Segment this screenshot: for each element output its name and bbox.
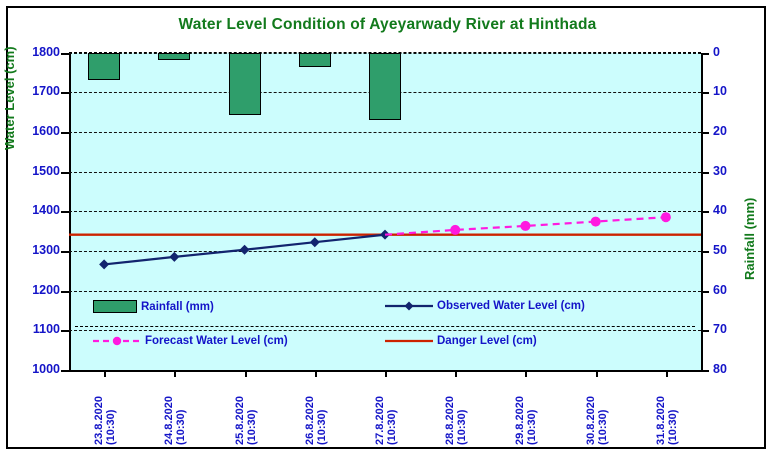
rainfall-bar: [369, 53, 401, 120]
left-tick: [61, 53, 69, 55]
legend-label-forecast: Forecast Water Level (cm): [145, 335, 288, 347]
right-tick: [701, 53, 709, 55]
right-axis-tick-label: 80: [713, 362, 753, 376]
x-tick: [455, 370, 457, 377]
right-tick: [701, 251, 709, 253]
left-axis-tick-label: 1600: [0, 124, 60, 138]
rainfall-bar: [88, 53, 120, 81]
x-axis-label: 30.8.2020(10:30): [585, 396, 609, 445]
left-tick: [61, 211, 69, 213]
right-tick: [701, 370, 709, 372]
right-axis-tick-label: 70: [713, 322, 753, 336]
right-axis-tick-label: 30: [713, 164, 753, 178]
rainfall-bar: [299, 53, 331, 68]
x-axis-label-time: (10:30): [175, 396, 187, 445]
left-axis-tick-label: 1800: [0, 45, 60, 59]
x-tick: [174, 370, 176, 377]
x-axis-label-date: 30.8.2020: [585, 396, 597, 445]
left-tick: [61, 370, 69, 372]
chart-legend: Rainfall (mm) Observed Water Level (cm) …: [75, 292, 695, 362]
x-axis-label-time: (10:30): [456, 396, 468, 445]
right-tick: [701, 132, 709, 134]
x-axis-label: 28.8.2020(10:30): [444, 396, 468, 445]
x-axis-label-date: 27.8.2020: [374, 396, 386, 445]
right-axis-tick-label: 60: [713, 283, 753, 297]
right-axis-tick-label: 0: [713, 45, 753, 59]
x-tick: [596, 370, 598, 377]
x-axis-label-date: 24.8.2020: [163, 396, 175, 445]
x-tick: [525, 370, 527, 377]
left-tick: [61, 330, 69, 332]
forecast-dashed-circle-icon: [93, 335, 141, 347]
x-axis-label-time: (10:30): [105, 396, 117, 445]
right-tick: [701, 291, 709, 293]
legend-divider: [75, 326, 695, 327]
x-axis-label: 26.8.2020(10:30): [304, 396, 328, 445]
gridline: [69, 251, 701, 252]
right-tick: [701, 172, 709, 174]
x-axis-label: 27.8.2020(10:30): [374, 396, 398, 445]
x-axis-label-time: (10:30): [667, 396, 679, 445]
rainfall-bar: [158, 53, 190, 61]
chart-screenshot: Water Level Condition of Ayeyarwady Rive…: [0, 0, 775, 457]
danger-line-icon: [385, 335, 433, 347]
x-axis-label-time: (10:30): [386, 396, 398, 445]
gridline: [69, 132, 701, 133]
rainfall-bar: [229, 53, 261, 115]
right-tick: [701, 330, 709, 332]
legend-item-rainfall: Rainfall (mm): [93, 300, 214, 313]
right-axis-tick-label: 50: [713, 243, 753, 257]
left-axis-tick-label: 1500: [0, 164, 60, 178]
x-axis-label: 31.8.2020(10:30): [655, 396, 679, 445]
left-tick: [61, 92, 69, 94]
observed-line-diamond-icon: [385, 300, 433, 312]
x-axis-label-time: (10:30): [526, 396, 538, 445]
right-tick: [701, 92, 709, 94]
x-axis-label: 29.8.2020(10:30): [514, 396, 538, 445]
left-tick: [61, 251, 69, 253]
right-tick: [701, 211, 709, 213]
left-tick: [61, 291, 69, 293]
left-tick: [61, 132, 69, 134]
x-tick: [104, 370, 106, 377]
x-axis-label-time: (10:30): [246, 396, 258, 445]
left-axis-tick-label: 1400: [0, 203, 60, 217]
x-tick: [245, 370, 247, 377]
left-tick: [61, 172, 69, 174]
left-axis-tick-label: 1700: [0, 84, 60, 98]
legend-item-forecast: Forecast Water Level (cm): [93, 335, 288, 347]
x-tick: [666, 370, 668, 377]
legend-item-observed: Observed Water Level (cm): [385, 300, 585, 312]
x-tick: [315, 370, 317, 377]
legend-label-rainfall: Rainfall (mm): [141, 301, 214, 313]
chart-title: Water Level Condition of Ayeyarwady Rive…: [0, 16, 775, 34]
x-axis-label-date: 26.8.2020: [304, 396, 316, 445]
left-axis-tick-label: 1000: [0, 362, 60, 376]
legend-label-danger: Danger Level (cm): [437, 335, 537, 347]
x-axis-label: 23.8.2020(10:30): [93, 396, 117, 445]
left-axis-tick-label: 1100: [0, 322, 60, 336]
left-axis-tick-label: 1200: [0, 283, 60, 297]
x-axis-label: 24.8.2020(10:30): [163, 396, 187, 445]
x-axis-label-time: (10:30): [316, 396, 328, 445]
right-axis-tick-label: 10: [713, 84, 753, 98]
gridline: [69, 172, 701, 173]
right-axis-tick-label: 20: [713, 124, 753, 138]
x-tick: [385, 370, 387, 377]
left-axis-tick-label: 1300: [0, 243, 60, 257]
x-axis-label-date: 29.8.2020: [514, 396, 526, 445]
x-axis-label-date: 28.8.2020: [444, 396, 456, 445]
x-axis-label-date: 23.8.2020: [93, 396, 105, 445]
gridline: [69, 211, 701, 212]
x-axis-label: 25.8.2020(10:30): [234, 396, 258, 445]
rainfall-swatch-icon: [93, 300, 137, 313]
x-axis-label-date: 25.8.2020: [234, 396, 246, 445]
x-axis-label-time: (10:30): [597, 396, 609, 445]
legend-label-observed: Observed Water Level (cm): [437, 300, 585, 312]
x-axis-label-date: 31.8.2020: [655, 396, 667, 445]
legend-item-danger: Danger Level (cm): [385, 335, 537, 347]
right-axis-tick-label: 40: [713, 203, 753, 217]
